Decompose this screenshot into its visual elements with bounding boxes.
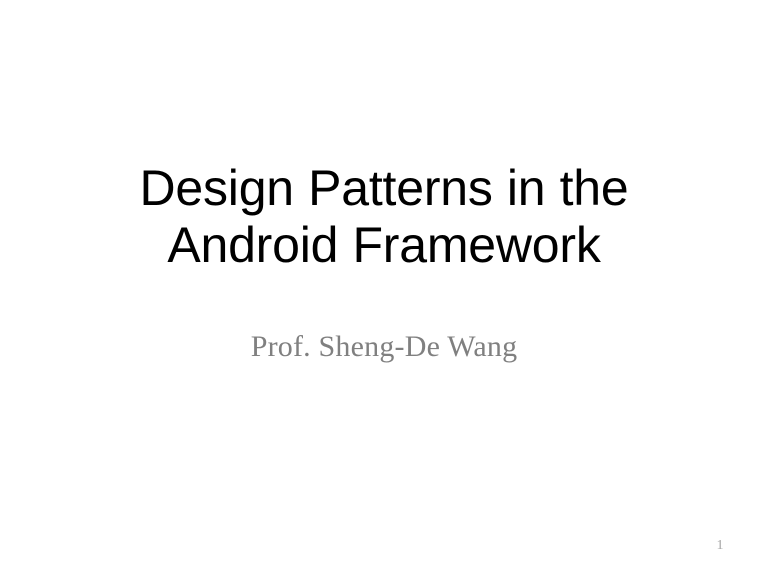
title-placeholder[interactable]: Design Patterns in the Android Framework bbox=[58, 160, 710, 274]
slide-canvas: Design Patterns in the Android Framework… bbox=[0, 0, 768, 576]
presenter-name: Prof. Sheng-De Wang bbox=[84, 328, 684, 366]
page-number: 1 bbox=[700, 538, 740, 554]
page-title: Design Patterns in the Android Framework bbox=[58, 160, 710, 274]
subtitle-placeholder[interactable]: Prof. Sheng-De Wang bbox=[84, 328, 684, 366]
